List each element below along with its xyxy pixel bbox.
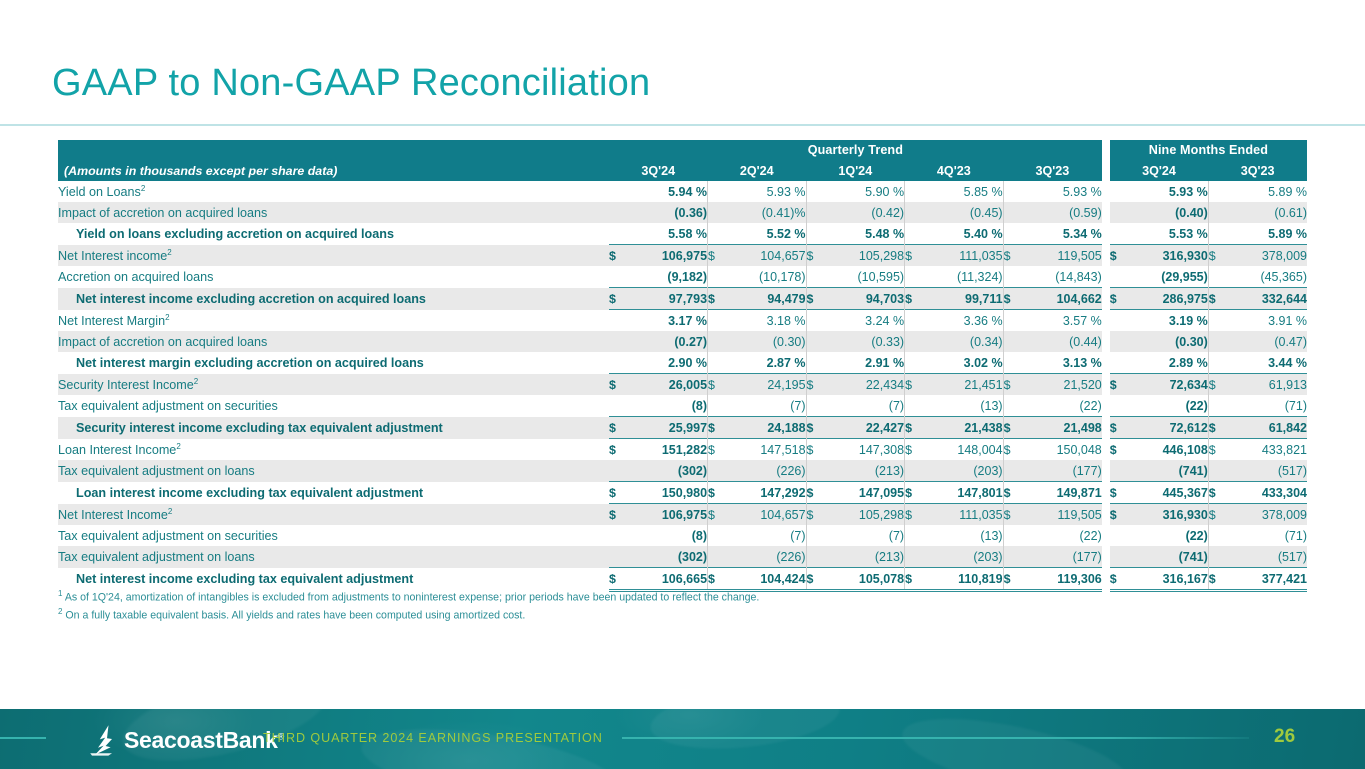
currency-symbol <box>609 266 625 288</box>
footnote-1-text: As of 1Q'24, amortization of intangibles… <box>65 592 760 604</box>
currency-symbol <box>609 310 625 332</box>
table-row: Tax equivalent adjustment on securities(… <box>58 395 1307 417</box>
column-group-split <box>1102 331 1110 352</box>
table-cell: 3.17 % <box>625 310 707 332</box>
row-label: Tax equivalent adjustment on securities <box>58 525 609 546</box>
table-cell: 377,421 <box>1224 568 1307 591</box>
table-cell: 149,871 <box>1019 482 1102 504</box>
column-group-split <box>1102 504 1110 526</box>
table-cell: 378,009 <box>1224 245 1307 267</box>
table-cell: 94,479 <box>724 288 806 310</box>
footnote-1: 1 As of 1Q'24, amortization of intangibl… <box>58 588 1158 606</box>
currency-symbol: $ <box>905 482 921 504</box>
table-cell: (741) <box>1126 460 1208 482</box>
table-cell: (0.30) <box>1126 331 1208 352</box>
currency-symbol: $ <box>1208 439 1224 461</box>
table-cell: 2.90 % <box>625 352 707 374</box>
currency-symbol <box>806 310 822 332</box>
table-cell: 3.13 % <box>1019 352 1102 374</box>
column-group-split <box>1102 525 1110 546</box>
page-number: 26 <box>1274 726 1295 748</box>
currency-symbol: $ <box>806 482 822 504</box>
table-cell: (0.27) <box>625 331 707 352</box>
currency-symbol: $ <box>1110 245 1126 267</box>
table-cell: (302) <box>625 546 707 568</box>
currency-symbol <box>1208 395 1224 417</box>
currency-symbol <box>1110 310 1126 332</box>
table-cell: 72,612 <box>1126 417 1208 439</box>
currency-symbol <box>708 525 724 546</box>
footer-rule-left <box>0 737 46 739</box>
currency-symbol <box>1110 202 1126 223</box>
currency-symbol <box>806 546 822 568</box>
currency-symbol <box>708 331 724 352</box>
table-cell: (203) <box>921 546 1003 568</box>
currency-symbol <box>1208 331 1224 352</box>
table-cell: 3.18 % <box>724 310 806 332</box>
table-cell: (302) <box>625 460 707 482</box>
currency-symbol <box>708 352 724 374</box>
table-cell: (7) <box>724 525 806 546</box>
currency-symbol: $ <box>708 439 724 461</box>
row-label-footnote-ref: 2 <box>194 377 198 386</box>
table-cell: 21,498 <box>1019 417 1102 439</box>
row-label: Net Interest Income2 <box>58 504 609 526</box>
currency-symbol: $ <box>1208 417 1224 439</box>
row-label-footnote-ref: 2 <box>176 442 180 451</box>
currency-symbol <box>1110 352 1126 374</box>
currency-symbol <box>1003 525 1019 546</box>
table-cell: 24,188 <box>724 417 806 439</box>
table-cell: (29,955) <box>1126 266 1208 288</box>
table-row: Net Interest Income2$106,975$104,657$105… <box>58 504 1307 526</box>
table-cell: (14,843) <box>1019 266 1102 288</box>
table-cell: 97,793 <box>625 288 707 310</box>
table-cell: (7) <box>822 395 904 417</box>
table-row: Yield on Loans25.94 %5.93 %5.90 %5.85 %5… <box>58 181 1307 202</box>
currency-symbol <box>1208 525 1224 546</box>
currency-symbol: $ <box>905 417 921 439</box>
row-label: Loan interest income excluding tax equiv… <box>58 482 609 504</box>
table-cell: (8) <box>625 395 707 417</box>
currency-symbol <box>806 460 822 482</box>
currency-symbol <box>905 266 921 288</box>
table-cell: 5.52 % <box>724 223 806 245</box>
table-cell: 147,292 <box>724 482 806 504</box>
currency-symbol: $ <box>806 374 822 396</box>
currency-symbol <box>609 181 625 202</box>
table-cell: (0.61) <box>1224 202 1307 223</box>
table-cell: (0.59) <box>1019 202 1102 223</box>
currency-symbol: $ <box>609 504 625 526</box>
table-row: Impact of accretion on acquired loans(0.… <box>58 202 1307 223</box>
table-cell: (22) <box>1019 525 1102 546</box>
currency-symbol: $ <box>609 482 625 504</box>
currency-symbol: $ <box>708 288 724 310</box>
brand-name-text: SeacoastBank <box>124 727 278 753</box>
currency-symbol <box>609 202 625 223</box>
table-cell: 316,930 <box>1126 504 1208 526</box>
table-cell: (177) <box>1019 460 1102 482</box>
table-cell: 148,004 <box>921 439 1003 461</box>
table-cell: 332,644 <box>1224 288 1307 310</box>
currency-symbol <box>609 395 625 417</box>
currency-symbol <box>1003 546 1019 568</box>
col-header-6: 3Q'23 <box>1208 160 1307 181</box>
table-cell: (71) <box>1224 395 1307 417</box>
currency-symbol: $ <box>1110 374 1126 396</box>
currency-symbol: $ <box>806 245 822 267</box>
currency-symbol <box>905 546 921 568</box>
currency-symbol: $ <box>1003 417 1019 439</box>
currency-symbol: $ <box>1208 374 1224 396</box>
col-header-2: 1Q'24 <box>806 160 905 181</box>
table-cell: 2.87 % <box>724 352 806 374</box>
page-title: GAAP to Non-GAAP Reconciliation <box>52 62 650 105</box>
currency-symbol <box>609 525 625 546</box>
table-cell: 5.48 % <box>822 223 904 245</box>
table-cell: (0.47) <box>1224 331 1307 352</box>
table-cell: 2.91 % <box>822 352 904 374</box>
table-head: Quarterly Trend Nine Months Ended (Amoun… <box>58 140 1307 181</box>
palm-frond-texture <box>647 709 842 757</box>
table-cell: 106,975 <box>625 504 707 526</box>
table-cell: (0.34) <box>921 331 1003 352</box>
currency-symbol <box>1110 223 1126 245</box>
table-cell: 3.91 % <box>1224 310 1307 332</box>
footnotes: 1 As of 1Q'24, amortization of intangibl… <box>58 588 1158 624</box>
table-cell: 151,282 <box>625 439 707 461</box>
table-cell: (71) <box>1224 525 1307 546</box>
currency-symbol <box>1208 310 1224 332</box>
row-label: Net interest income excluding accretion … <box>58 288 609 310</box>
currency-symbol <box>1208 460 1224 482</box>
table-cell: 22,434 <box>822 374 904 396</box>
table-cell: 104,657 <box>724 245 806 267</box>
footnote-2-marker: 2 <box>58 607 62 616</box>
row-label: Impact of accretion on acquired loans <box>58 331 609 352</box>
currency-symbol: $ <box>708 374 724 396</box>
table-cell: (22) <box>1126 395 1208 417</box>
column-group-split <box>1102 245 1110 267</box>
table-cell: (9,182) <box>625 266 707 288</box>
table-cell: 72,634 <box>1126 374 1208 396</box>
currency-symbol: $ <box>1110 504 1126 526</box>
table-cell: (203) <box>921 460 1003 482</box>
table-row: Net interest income excluding accretion … <box>58 288 1307 310</box>
table-row: Accretion on acquired loans(9,182)(10,17… <box>58 266 1307 288</box>
table-cell: 5.94 % <box>625 181 707 202</box>
row-label: Tax equivalent adjustment on loans <box>58 546 609 568</box>
palm-frond-texture <box>896 709 1133 769</box>
table-body: Yield on Loans25.94 %5.93 %5.90 %5.85 %5… <box>58 181 1307 591</box>
table-row: Net Interest Margin23.17 %3.18 %3.24 %3.… <box>58 310 1307 332</box>
column-group-split <box>1102 288 1110 310</box>
footnote-2-text: On a fully taxable equivalent basis. All… <box>65 609 525 621</box>
currency-symbol: $ <box>609 288 625 310</box>
currency-symbol <box>1003 181 1019 202</box>
column-group-split <box>1102 202 1110 223</box>
currency-symbol: $ <box>806 504 822 526</box>
table-row: Security Interest Income2$26,005$24,195$… <box>58 374 1307 396</box>
currency-symbol <box>806 525 822 546</box>
table-cell: 5.53 % <box>1126 223 1208 245</box>
table-cell: 119,505 <box>1019 504 1102 526</box>
currency-symbol: $ <box>1208 568 1224 591</box>
table-cell: 111,035 <box>921 245 1003 267</box>
footnote-1-marker: 1 <box>58 589 62 598</box>
currency-symbol <box>905 460 921 482</box>
group-header-quarterly: Quarterly Trend <box>609 140 1102 160</box>
table-cell: 21,438 <box>921 417 1003 439</box>
table-cell: (0.42) <box>822 202 904 223</box>
currency-symbol <box>1003 460 1019 482</box>
table-row: Net Interest income2$106,975$104,657$105… <box>58 245 1307 267</box>
table-row: Tax equivalent adjustment on securities(… <box>58 525 1307 546</box>
table-cell: (0.41)% <box>724 202 806 223</box>
currency-symbol <box>806 331 822 352</box>
table-cell: 445,367 <box>1126 482 1208 504</box>
row-label: Tax equivalent adjustment on loans <box>58 460 609 482</box>
amounts-note: (Amounts in thousands except per share d… <box>58 160 609 181</box>
currency-symbol <box>1110 546 1126 568</box>
currency-symbol: $ <box>609 439 625 461</box>
table-cell: 104,657 <box>724 504 806 526</box>
currency-symbol: $ <box>1003 374 1019 396</box>
currency-symbol <box>1110 266 1126 288</box>
table-cell: 378,009 <box>1224 504 1307 526</box>
table-row: Loan Interest Income2$151,282$147,518$14… <box>58 439 1307 461</box>
table-cell: (22) <box>1126 525 1208 546</box>
table-cell: (10,178) <box>724 266 806 288</box>
table-row: Loan interest income excluding tax equiv… <box>58 482 1307 504</box>
table-cell: 286,975 <box>1126 288 1208 310</box>
reconciliation-table: Quarterly Trend Nine Months Ended (Amoun… <box>58 140 1307 592</box>
currency-symbol: $ <box>806 439 822 461</box>
table-row: Tax equivalent adjustment on loans(302)(… <box>58 546 1307 568</box>
row-label: Accretion on acquired loans <box>58 266 609 288</box>
currency-symbol <box>1208 352 1224 374</box>
table-cell: 147,095 <box>822 482 904 504</box>
table-cell: 5.89 % <box>1224 223 1307 245</box>
table-cell: 26,005 <box>625 374 707 396</box>
currency-symbol <box>609 223 625 245</box>
column-group-split <box>1102 223 1110 245</box>
table-cell: 2.89 % <box>1126 352 1208 374</box>
row-label-footnote-ref: 2 <box>165 313 169 322</box>
currency-symbol: $ <box>905 504 921 526</box>
currency-symbol <box>905 310 921 332</box>
table-cell: 24,195 <box>724 374 806 396</box>
table-cell: 21,520 <box>1019 374 1102 396</box>
table-cell: 5.93 % <box>724 181 806 202</box>
currency-symbol: $ <box>1003 288 1019 310</box>
currency-symbol <box>1110 525 1126 546</box>
currency-symbol <box>1110 395 1126 417</box>
table-cell: (7) <box>822 525 904 546</box>
table-cell: (13) <box>921 395 1003 417</box>
col-header-0: 3Q'24 <box>609 160 708 181</box>
footnote-2: 2 On a fully taxable equivalent basis. A… <box>58 606 1158 624</box>
currency-symbol <box>905 202 921 223</box>
table-row: Net interest margin excluding accretion … <box>58 352 1307 374</box>
table-cell: 5.85 % <box>921 181 1003 202</box>
column-group-split <box>1102 417 1110 439</box>
table-cell: (0.33) <box>822 331 904 352</box>
group-header-blank <box>58 140 609 160</box>
column-group-split <box>1102 482 1110 504</box>
currency-symbol: $ <box>806 417 822 439</box>
header-split <box>1102 160 1110 181</box>
column-group-split <box>1102 546 1110 568</box>
table-row: Impact of accretion on acquired loans(0.… <box>58 331 1307 352</box>
currency-symbol <box>708 310 724 332</box>
row-label: Net Interest income2 <box>58 245 609 267</box>
currency-symbol <box>1110 460 1126 482</box>
table-row: Tax equivalent adjustment on loans(302)(… <box>58 460 1307 482</box>
currency-symbol <box>806 352 822 374</box>
table-cell: 61,913 <box>1224 374 1307 396</box>
table-cell: (0.45) <box>921 202 1003 223</box>
table-row: Yield on loans excluding accretion on ac… <box>58 223 1307 245</box>
currency-symbol: $ <box>1208 288 1224 310</box>
currency-symbol <box>806 202 822 223</box>
currency-symbol <box>708 202 724 223</box>
currency-symbol <box>1003 352 1019 374</box>
table-cell: 3.36 % <box>921 310 1003 332</box>
table-cell: 3.57 % <box>1019 310 1102 332</box>
currency-symbol <box>905 525 921 546</box>
currency-symbol <box>1208 202 1224 223</box>
currency-symbol <box>806 266 822 288</box>
currency-symbol <box>806 395 822 417</box>
table-cell: (13) <box>921 525 1003 546</box>
table-cell: 147,308 <box>822 439 904 461</box>
reconciliation-table-container: Quarterly Trend Nine Months Ended (Amoun… <box>58 140 1307 592</box>
currency-symbol: $ <box>806 288 822 310</box>
table-cell: 5.34 % <box>1019 223 1102 245</box>
table-cell: (0.44) <box>1019 331 1102 352</box>
currency-symbol <box>1003 202 1019 223</box>
footer-rule-right <box>622 737 1249 739</box>
currency-symbol <box>708 460 724 482</box>
table-cell: 3.02 % <box>921 352 1003 374</box>
table-cell: (0.36) <box>625 202 707 223</box>
table-cell: 147,801 <box>921 482 1003 504</box>
table-cell: (517) <box>1224 460 1307 482</box>
column-group-split <box>1102 439 1110 461</box>
currency-symbol <box>905 395 921 417</box>
table-cell: (8) <box>625 525 707 546</box>
currency-symbol: $ <box>1208 245 1224 267</box>
row-label-footnote-ref: 2 <box>168 507 172 516</box>
row-label: Impact of accretion on acquired loans <box>58 202 609 223</box>
table-cell: 5.58 % <box>625 223 707 245</box>
row-label-footnote-ref: 2 <box>167 248 171 257</box>
table-cell: 5.93 % <box>1126 181 1208 202</box>
table-cell: (213) <box>822 460 904 482</box>
table-cell: 147,518 <box>724 439 806 461</box>
column-header-row: (Amounts in thousands except per share d… <box>58 160 1307 181</box>
table-cell: 5.93 % <box>1019 181 1102 202</box>
currency-symbol: $ <box>1110 482 1126 504</box>
column-group-split <box>1102 266 1110 288</box>
col-header-3: 4Q'23 <box>905 160 1004 181</box>
column-group-split <box>1102 310 1110 332</box>
footer-subtitle: THIRD QUARTER 2024 EARNINGS PRESENTATION <box>263 731 603 745</box>
table-cell: (177) <box>1019 546 1102 568</box>
table-cell: (226) <box>724 460 806 482</box>
currency-symbol: $ <box>1110 288 1126 310</box>
currency-symbol: $ <box>1110 439 1126 461</box>
currency-symbol <box>1208 181 1224 202</box>
currency-symbol <box>905 181 921 202</box>
title-divider <box>0 124 1365 126</box>
currency-symbol <box>708 266 724 288</box>
column-group-split <box>1102 181 1110 202</box>
currency-symbol <box>708 181 724 202</box>
seacoast-logo-icon <box>86 723 120 757</box>
currency-symbol: $ <box>1208 504 1224 526</box>
currency-symbol <box>708 223 724 245</box>
currency-symbol: $ <box>609 374 625 396</box>
currency-symbol: $ <box>905 374 921 396</box>
currency-symbol <box>806 181 822 202</box>
currency-symbol: $ <box>1110 417 1126 439</box>
column-group-split <box>1102 352 1110 374</box>
table-cell: 316,930 <box>1126 245 1208 267</box>
col-header-1: 2Q'24 <box>708 160 807 181</box>
table-cell: 446,108 <box>1126 439 1208 461</box>
currency-symbol: $ <box>1003 245 1019 267</box>
currency-symbol <box>1003 310 1019 332</box>
table-cell: 5.90 % <box>822 181 904 202</box>
row-label: Yield on Loans2 <box>58 181 609 202</box>
column-group-split <box>1102 460 1110 482</box>
table-cell: 3.44 % <box>1224 352 1307 374</box>
table-cell: 21,451 <box>921 374 1003 396</box>
table-cell: 150,980 <box>625 482 707 504</box>
table-cell: 61,842 <box>1224 417 1307 439</box>
currency-symbol <box>609 546 625 568</box>
table-cell: (22) <box>1019 395 1102 417</box>
group-header-row: Quarterly Trend Nine Months Ended <box>58 140 1307 160</box>
group-split <box>1102 140 1110 160</box>
row-label: Net Interest Margin2 <box>58 310 609 332</box>
currency-symbol <box>905 352 921 374</box>
currency-symbol <box>1003 395 1019 417</box>
table-cell: (741) <box>1126 546 1208 568</box>
table-row: Security interest income excluding tax e… <box>58 417 1307 439</box>
currency-symbol <box>609 460 625 482</box>
currency-symbol <box>708 546 724 568</box>
table-cell: 150,048 <box>1019 439 1102 461</box>
table-cell: 99,711 <box>921 288 1003 310</box>
currency-symbol <box>905 223 921 245</box>
table-cell: (10,595) <box>822 266 904 288</box>
table-cell: 433,821 <box>1224 439 1307 461</box>
table-cell: 111,035 <box>921 504 1003 526</box>
currency-symbol <box>1110 181 1126 202</box>
table-cell: 433,304 <box>1224 482 1307 504</box>
currency-symbol <box>609 352 625 374</box>
currency-symbol <box>905 331 921 352</box>
row-label: Yield on loans excluding accretion on ac… <box>58 223 609 245</box>
row-label: Security interest income excluding tax e… <box>58 417 609 439</box>
table-cell: (0.30) <box>724 331 806 352</box>
table-cell: 3.19 % <box>1126 310 1208 332</box>
row-label: Net interest margin excluding accretion … <box>58 352 609 374</box>
